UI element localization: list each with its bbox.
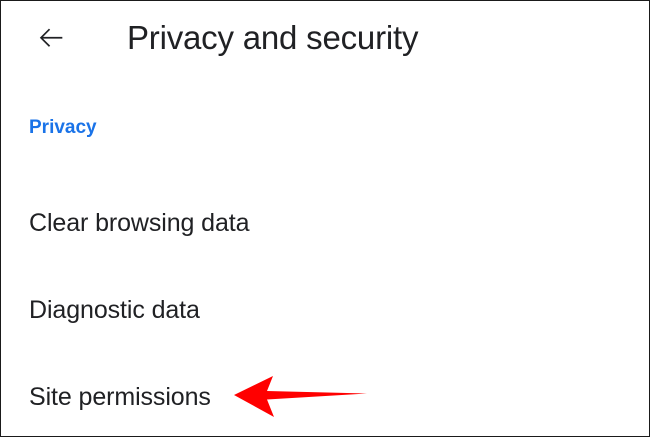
list-item-label: Clear browsing data [29,207,249,239]
privacy-and-security-screen: Privacy and security Privacy Clear brows… [0,0,650,437]
list-item-diagnostic-data[interactable]: Diagnostic data [1,266,650,353]
section-header-privacy: Privacy [29,115,97,141]
settings-list: Clear browsing data Diagnostic data Site… [1,179,650,437]
list-item-site-permissions[interactable]: Site permissions [1,353,650,437]
back-button[interactable] [27,14,75,62]
app-bar: Privacy and security [1,1,650,79]
list-item-label: Diagnostic data [29,294,200,326]
page-title: Privacy and security [127,18,418,58]
list-item-clear-browsing-data[interactable]: Clear browsing data [1,179,650,266]
list-item-label: Site permissions [29,381,211,413]
arrow-back-icon [34,21,68,55]
